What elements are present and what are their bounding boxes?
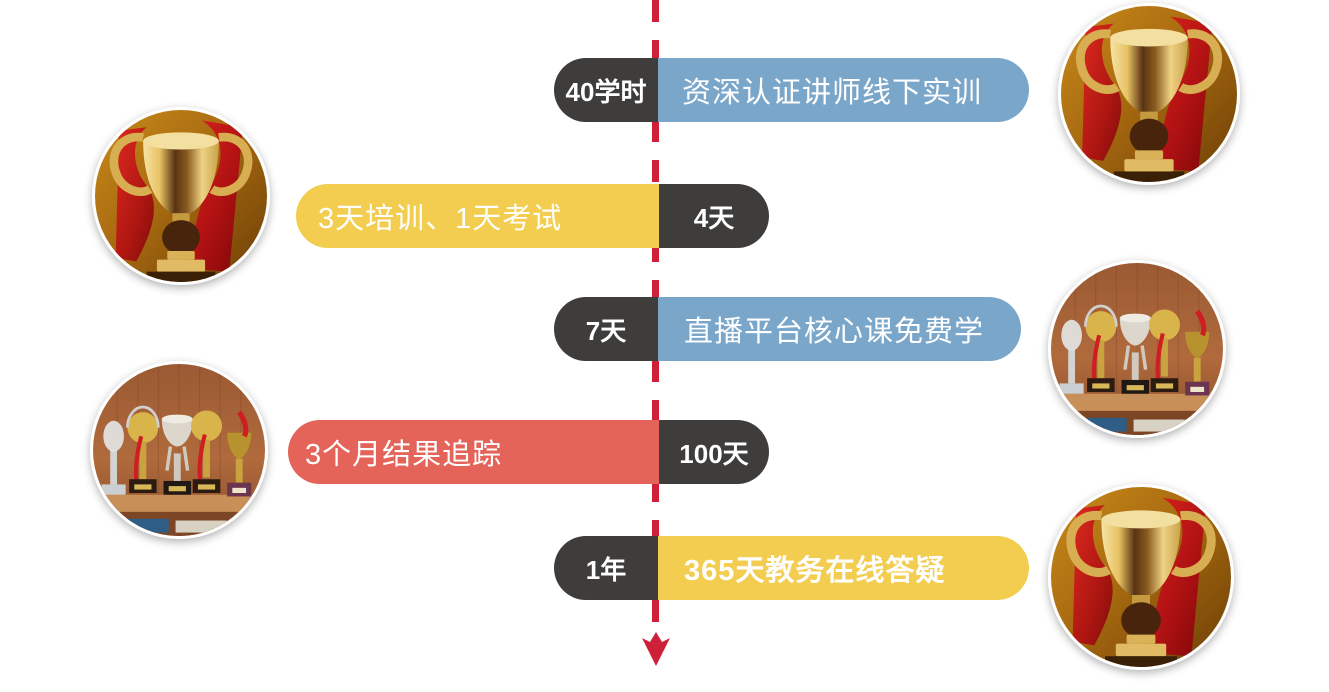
duration-label: 100天 (679, 434, 748, 471)
timeline-bar-row-40-hours[interactable]: 40学时 资深认证讲师线下实训 (554, 58, 1029, 122)
description-panel-100-days: 3个月结果追踪 (288, 420, 659, 484)
duration-badge-1-year: 1年 (554, 536, 658, 600)
duration-label: 1年 (586, 550, 626, 587)
description-label: 3天培训、1天考试 (318, 195, 562, 237)
description-label: 直播平台核心课免费学 (684, 308, 984, 350)
description-label: 365天教务在线答疑 (684, 547, 945, 589)
duration-label: 4天 (694, 198, 734, 235)
timeline-bar-row-4-days[interactable]: 3天培训、1天考试 4天 (296, 184, 769, 248)
photo-left-bottom (90, 361, 268, 539)
trophy-image (1051, 487, 1231, 667)
description-panel-40-hours: 资深认证讲师线下实训 (658, 58, 1029, 122)
duration-label: 40学时 (566, 72, 647, 109)
timeline-bar-row-100-days[interactable]: 3个月结果追踪 100天 (288, 420, 769, 484)
photo-right-top (1058, 3, 1240, 185)
duration-badge-7-days: 7天 (554, 297, 658, 361)
description-panel-4-days: 3天培训、1天考试 (296, 184, 659, 248)
photo-right-mid (1048, 260, 1226, 438)
description-panel-7-days: 直播平台核心课免费学 (658, 297, 1021, 361)
trophy-shelf-image (1051, 263, 1223, 435)
trophy-shelf-image (93, 364, 265, 536)
photo-left-top (92, 107, 270, 285)
photo-right-bottom (1048, 484, 1234, 670)
duration-badge-40-hours: 40学时 (554, 58, 658, 122)
duration-badge-4-days: 4天 (659, 184, 769, 248)
trophy-image (95, 110, 267, 282)
description-label: 3个月结果追踪 (305, 431, 502, 473)
timeline-arrow-down-icon (636, 630, 676, 666)
description-label: 资深认证讲师线下实训 (682, 69, 982, 111)
duration-badge-100-days: 100天 (659, 420, 769, 484)
trophy-image (1061, 6, 1237, 182)
timeline-bar-row-1-year[interactable]: 1年 365天教务在线答疑 (554, 536, 1029, 600)
duration-label: 7天 (586, 311, 626, 348)
description-panel-1-year: 365天教务在线答疑 (658, 536, 1029, 600)
timeline-bar-row-7-days[interactable]: 7天 直播平台核心课免费学 (554, 297, 1021, 361)
